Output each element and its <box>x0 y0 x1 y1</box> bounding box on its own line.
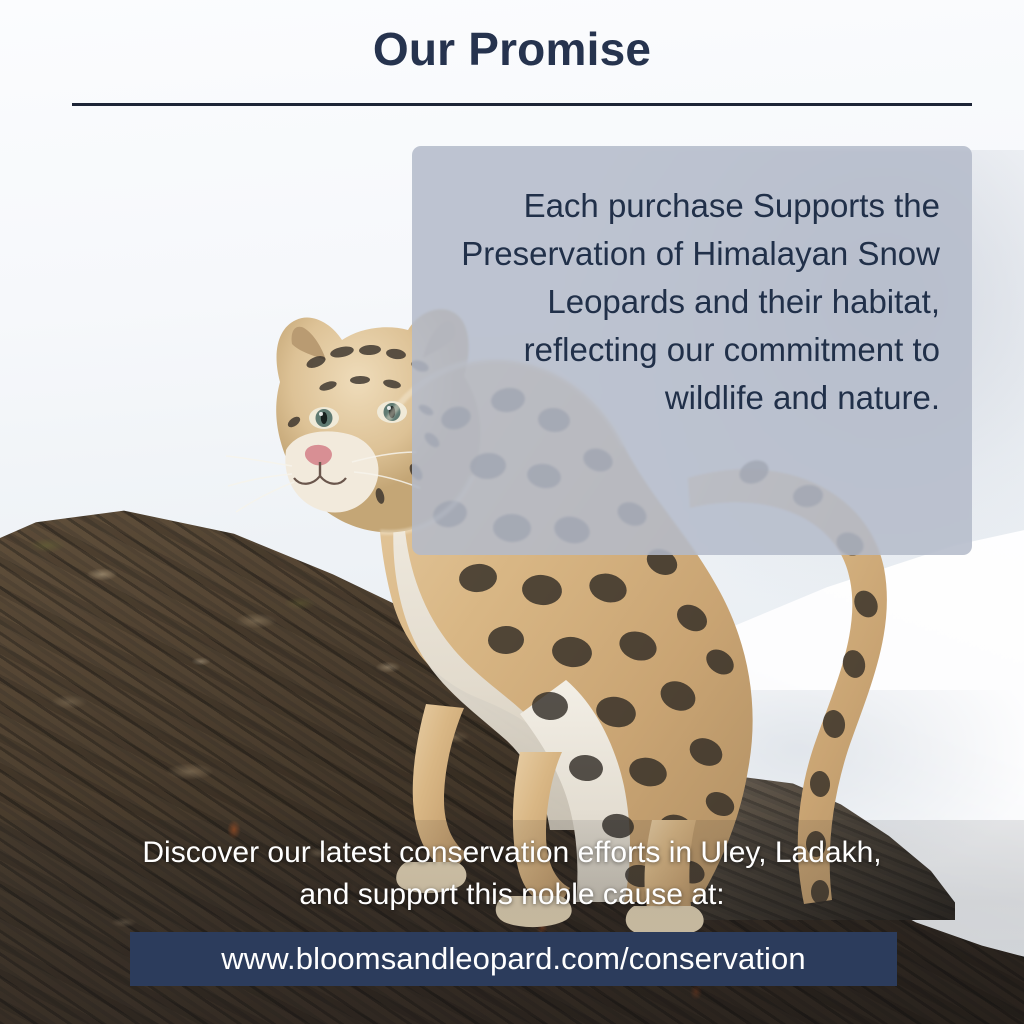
page-title: Our Promise <box>0 22 1024 76</box>
conservation-url[interactable]: www.bloomsandleopard.com/conservation <box>221 941 805 977</box>
cta-line-1: Discover our latest conservation efforts… <box>40 832 984 874</box>
cta-line-2: and support this noble cause at: <box>40 874 984 916</box>
url-banner[interactable]: www.bloomsandleopard.com/conservation <box>130 932 897 986</box>
promise-graphic: Our Promise Each purchase Supports the P… <box>0 0 1024 1024</box>
header-divider <box>72 103 972 106</box>
promise-text: Each purchase Supports the Preservation … <box>432 182 940 422</box>
cta-headline: Discover our latest conservation efforts… <box>40 832 984 916</box>
